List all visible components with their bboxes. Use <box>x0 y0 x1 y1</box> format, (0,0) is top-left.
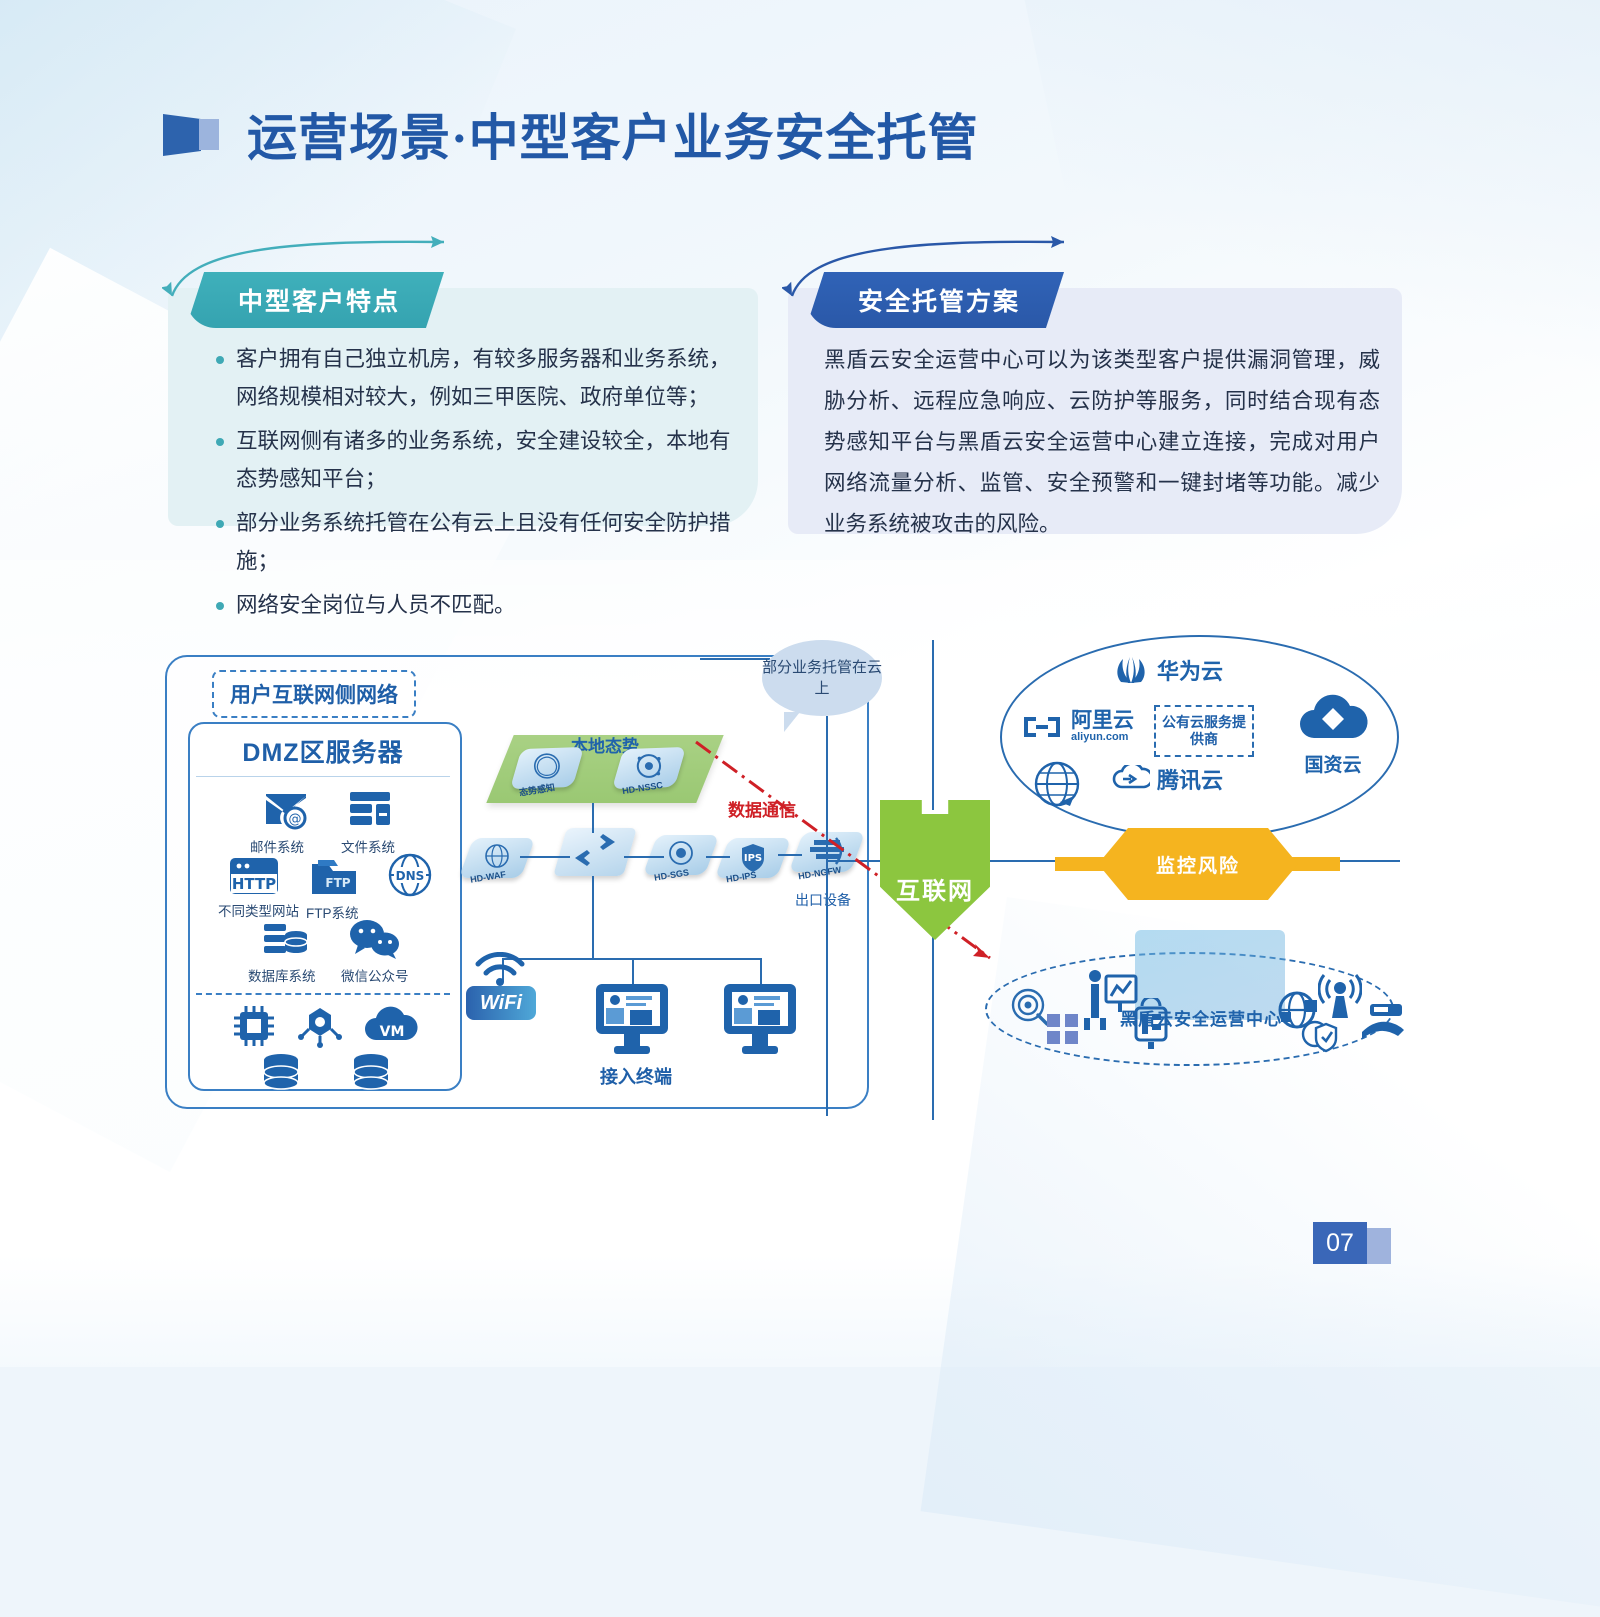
list-item: 客户拥有自己独立机房，有较多服务器和业务系统，网络规模相对较大，例如三甲医院、政… <box>208 340 748 416</box>
customer-traits-card: 中型客户特点 客户拥有自己独立机房，有较多服务器和业务系统，网络规模相对较大，例… <box>168 236 758 526</box>
mail-icon-label: 邮件系统 <box>250 836 304 856</box>
risk-banner: 监控风险 <box>1098 828 1298 900</box>
page-number-wing <box>1367 1228 1391 1264</box>
svg-text:DNS: DNS <box>396 869 425 883</box>
managed-service-hand-icon <box>1360 998 1406 1040</box>
alibaba-cloud-icon <box>1020 714 1064 740</box>
huawei-cloud-item: 华为云 <box>1112 654 1223 686</box>
dmz-dashed-divider <box>196 993 450 995</box>
wire-waf-switch <box>520 856 570 858</box>
alibaba-cloud-domain: aliyun.com <box>1071 732 1134 744</box>
page-header: 运营场景·中型客户业务安全托管 <box>163 98 979 170</box>
antenna-signal-icon <box>1318 972 1362 1020</box>
database-stack-icon-label: 数据库系统 <box>248 965 316 985</box>
grid-apps-icon <box>1045 1012 1081 1046</box>
tencent-cloud-label: 腾讯云 <box>1157 763 1223 795</box>
cloud-hosting-bubble: 部分业务托管在云上 <box>762 640 882 716</box>
wifi-signal-icon <box>472 952 528 988</box>
file-server-icon <box>348 790 392 830</box>
managed-security-paragraph: 黑盾云安全运营中心可以为该类型客户提供漏洞管理，威胁分析、远程应急响应、云防护等… <box>824 340 1380 545</box>
huawei-cloud-icon <box>1112 655 1150 685</box>
wifi-badge: WiFi <box>466 986 536 1020</box>
page-title: 运营场景·中型客户业务安全托管 <box>247 98 979 170</box>
data-communication-label: 数据通信 <box>728 796 796 821</box>
globe-arrow-icon <box>1030 758 1088 814</box>
customer-traits-heading: 中型客户特点 <box>186 272 444 328</box>
wire-bubble-stem <box>700 658 770 660</box>
customer-network-panel-title: 用户互联网侧网络 <box>212 670 416 718</box>
svg-text:@: @ <box>289 812 302 827</box>
guozi-cloud-label: 国资云 <box>1296 750 1370 777</box>
dmz-server-title: DMZ区服务器 <box>188 733 458 769</box>
alibaba-cloud-item: 阿里云 aliyun.com <box>1020 710 1134 744</box>
page-number: 07 <box>1313 1222 1367 1264</box>
wechat-icon-label: 微信公众号 <box>341 965 409 985</box>
disk-stack-icon <box>258 1052 304 1092</box>
terminals-label: 接入终端 <box>600 1063 672 1089</box>
dns-globe-icon: DNS <box>386 852 434 898</box>
guozi-cloud-item: 国资云 <box>1296 690 1370 777</box>
svg-text:FTP: FTP <box>325 876 350 890</box>
list-item: 互联网侧有诸多的业务系统，安全建设较全，本地有态势感知平台； <box>208 422 748 498</box>
guozi-cloud-icon <box>1296 690 1370 744</box>
customer-traits-heading-label: 中型客户特点 <box>238 282 400 318</box>
desktop-terminal-icon <box>592 982 672 1063</box>
wire-plane-switch <box>592 803 594 833</box>
shield-globe-icon <box>1300 1016 1340 1056</box>
risk-banner-label: 监控风险 <box>1156 851 1240 878</box>
public-cloud-center-label: 公有云服务提供商 <box>1154 705 1254 757</box>
alibaba-cloud-label: 阿里云 <box>1071 710 1134 732</box>
cpu-chip-icon <box>232 1004 276 1048</box>
vm-cloud-icon: VM <box>362 1006 420 1046</box>
mail-icon: @ <box>262 790 310 830</box>
http-icon: HTTP <box>228 856 280 898</box>
tencent-cloud-item: 腾讯云 <box>1110 763 1223 795</box>
huawei-cloud-label: 华为云 <box>1157 654 1223 686</box>
wire-switch-terminals <box>592 876 594 960</box>
wifi-badge-label: WiFi <box>480 992 522 1015</box>
cloud-hosting-bubble-label: 部分业务托管在云上 <box>762 657 882 699</box>
customer-traits-list: 客户拥有自己独立机房，有较多服务器和业务系统，网络规模相对较大，例如三甲医院、政… <box>208 340 748 630</box>
managed-security-card: 安全托管方案 黑盾云安全运营中心可以为该类型客户提供漏洞管理，威胁分析、远程应急… <box>788 236 1402 536</box>
svg-text:VM: VM <box>380 1024 405 1040</box>
disk-stack-icon <box>348 1052 394 1092</box>
managed-security-heading: 安全托管方案 <box>806 272 1064 328</box>
fingerprint-icon <box>1008 985 1050 1027</box>
architecture-diagram: 用户互联网侧网络 DMZ区服务器 @ 邮件系统 文件系统 HTTP 不同类型网站… <box>0 600 1600 1140</box>
internet-hexagon-label: 互联网 <box>896 871 974 906</box>
list-item: 部分业务系统托管在公有云上且没有任何安全防护措施； <box>208 504 748 580</box>
wechat-icon <box>348 918 400 960</box>
managed-security-heading-label: 安全托管方案 <box>858 282 1020 318</box>
wire-terminal-pc1 <box>632 958 634 984</box>
database-stack-icon <box>262 920 310 962</box>
tencent-cloud-icon <box>1110 765 1150 793</box>
flag-bullet-icon <box>163 111 221 157</box>
ftp-folder-icon: FTP <box>308 854 360 898</box>
desktop-terminal-icon <box>720 982 800 1063</box>
svg-text:HTTP: HTTP <box>232 875 276 893</box>
soc-label: 黑盾云安全运营中心 <box>1120 1005 1282 1030</box>
network-node-icon <box>298 1004 342 1048</box>
dmz-divider <box>196 776 450 777</box>
wire-switch-sgs <box>624 856 664 858</box>
switch-icon <box>553 828 637 876</box>
http-icon-label: 不同类型网站 <box>218 900 299 920</box>
